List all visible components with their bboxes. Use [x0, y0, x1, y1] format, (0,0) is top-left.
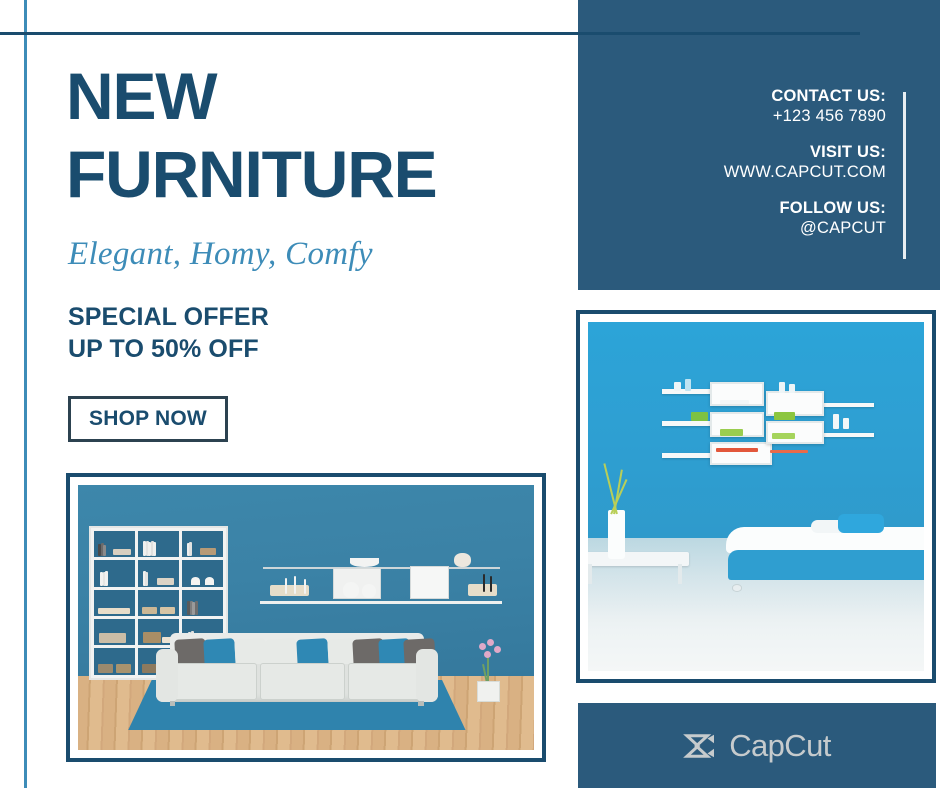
offer-block: SPECIAL OFFER UP TO 50% OFF	[68, 302, 269, 365]
capcut-wordmark: CapCut	[729, 728, 831, 764]
contact-group-phone: CONTACT US: +123 456 7890	[771, 86, 886, 126]
contact-label-social: FOLLOW US:	[780, 198, 886, 218]
shop-now-button[interactable]: SHOP NOW	[68, 396, 228, 442]
living-room-image	[78, 485, 534, 750]
modular-wall-shelves	[662, 374, 870, 468]
contact-value-phone[interactable]: +123 456 7890	[773, 106, 886, 126]
sofa	[156, 633, 439, 702]
vase-with-twigs	[608, 510, 625, 559]
contact-value-social[interactable]: @CAPCUT	[800, 218, 886, 238]
tagline: Elegant, Homy, Comfy	[68, 236, 373, 273]
contact-panel: CONTACT US: +123 456 7890 VISIT US: WWW.…	[578, 0, 940, 290]
contact-label-phone: CONTACT US:	[771, 86, 886, 106]
contact-value-website[interactable]: WWW.CAPCUT.COM	[724, 162, 886, 182]
offer-line-1: SPECIAL OFFER	[68, 302, 269, 334]
wall-shelf	[260, 565, 502, 605]
living-room-image-frame	[66, 473, 546, 762]
bed	[726, 510, 924, 587]
page-title: NEW FURNITURE	[66, 58, 566, 214]
bedroom-image-frame	[576, 310, 936, 683]
contact-group-social: FOLLOW US: @CAPCUT	[780, 198, 886, 238]
headline-line-2: FURNITURE	[66, 136, 566, 214]
capcut-hourglass-icon	[683, 732, 717, 760]
orchid-plant	[466, 639, 512, 703]
offer-line-2: UP TO 50% OFF	[68, 334, 269, 366]
low-table	[588, 552, 689, 583]
contact-group-website: VISIT US: WWW.CAPCUT.COM	[724, 142, 886, 182]
contact-panel-divider	[903, 92, 906, 259]
contact-label-website: VISIT US:	[810, 142, 886, 162]
vertical-accent-rule	[24, 0, 27, 788]
bedroom-image	[588, 322, 924, 671]
poster-canvas: CONTACT US: +123 456 7890 VISIT US: WWW.…	[0, 0, 940, 788]
headline-line-1: NEW	[66, 58, 566, 136]
capcut-brand-panel: CapCut	[578, 703, 936, 788]
horizontal-accent-rule	[0, 32, 860, 35]
